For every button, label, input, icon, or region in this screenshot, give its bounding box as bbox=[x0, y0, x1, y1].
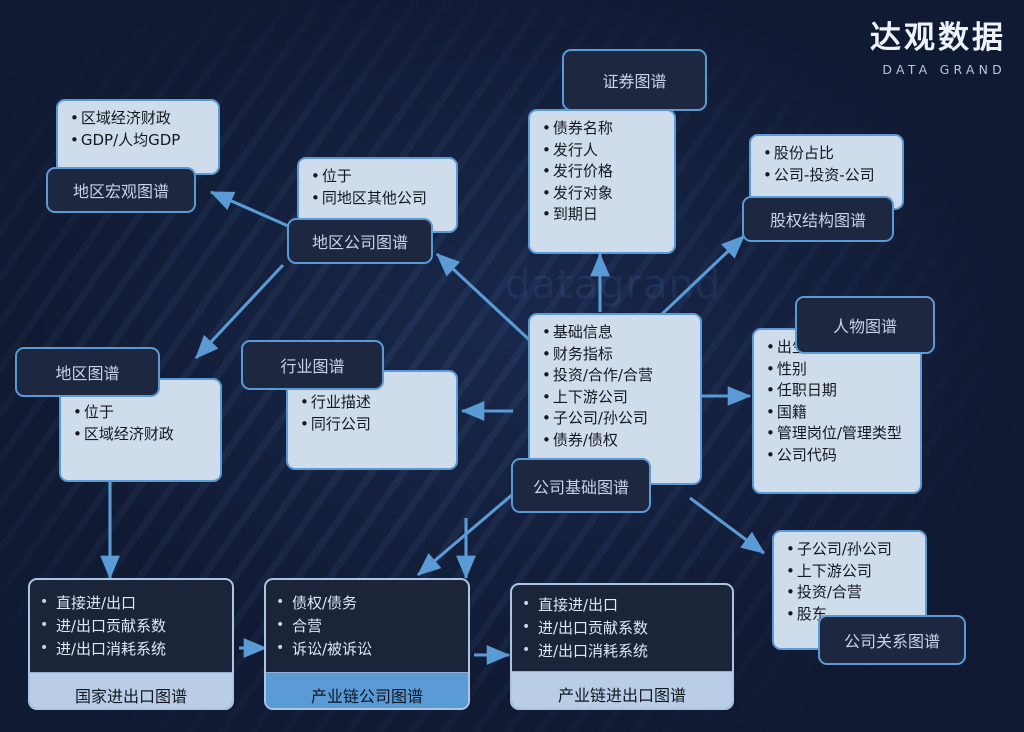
diagram-canvas: datagrand bbox=[0, 0, 1024, 732]
list-item: 性别 bbox=[766, 359, 910, 381]
list-item: 子公司/孙公司 bbox=[542, 408, 690, 430]
list-item: 基础信息 bbox=[542, 322, 690, 344]
region-label[interactable]: 地区图谱 bbox=[15, 347, 160, 397]
chain-company-label[interactable]: 产业链公司图谱 bbox=[266, 672, 468, 710]
list-item: 诉讼/被诉讼 bbox=[292, 638, 458, 661]
company-relation-label[interactable]: 公司关系图谱 bbox=[818, 615, 966, 665]
list-item: 位于 bbox=[73, 402, 210, 424]
list-item: 同地区其他公司 bbox=[311, 188, 446, 210]
securities-panel: 债券名称 发行人 发行价格 发行对象 到期日 bbox=[528, 109, 676, 254]
card-country-trade[interactable]: 直接进/出口 进/出口贡献系数 进/出口消耗系统 国家进出口图谱 bbox=[28, 578, 234, 710]
list-item: 行业描述 bbox=[300, 392, 446, 414]
list-item: 公司-投资-公司 bbox=[763, 165, 892, 187]
list-item: 直接进/出口 bbox=[538, 594, 722, 617]
list-item: 进/出口贡献系数 bbox=[538, 617, 722, 640]
list-item: 发行价格 bbox=[542, 161, 664, 183]
region-macro-label[interactable]: 地区宏观图谱 bbox=[46, 167, 196, 213]
card-chain-trade[interactable]: 直接进/出口 进/出口贡献系数 进/出口消耗系统 产业链进出口图谱 bbox=[510, 583, 734, 710]
list-item: 上下游公司 bbox=[786, 561, 915, 583]
list-item: 区域经济财政 bbox=[70, 108, 208, 130]
list-item: 债券/债权 bbox=[542, 430, 690, 452]
list-item: 国籍 bbox=[766, 402, 910, 424]
equity-structure-label[interactable]: 股权结构图谱 bbox=[742, 196, 894, 242]
logo-english: DATA GRAND bbox=[870, 62, 1006, 77]
list-item: 进/出口消耗系统 bbox=[538, 640, 722, 663]
country-trade-label[interactable]: 国家进出口图谱 bbox=[30, 672, 232, 710]
list-item: 上下游公司 bbox=[542, 387, 690, 409]
securities-label[interactable]: 证券图谱 bbox=[562, 49, 707, 111]
list-item: 债券名称 bbox=[542, 118, 664, 140]
list-item: 发行对象 bbox=[542, 183, 664, 205]
list-item: 区域经济财政 bbox=[73, 424, 210, 446]
region-macro-panel: 区域经济财政 GDP/人均GDP bbox=[56, 99, 220, 175]
chain-trade-label[interactable]: 产业链进出口图谱 bbox=[512, 671, 732, 710]
card-chain-company[interactable]: 债权/债务 合营 诉讼/被诉讼 产业链公司图谱 bbox=[264, 578, 470, 710]
link-region-company-to-macro bbox=[211, 192, 295, 229]
person-label[interactable]: 人物图谱 bbox=[795, 296, 935, 354]
list-item: 发行人 bbox=[542, 140, 664, 162]
list-item: GDP/人均GDP bbox=[70, 130, 208, 152]
list-item: 投资/合营 bbox=[786, 582, 915, 604]
link-core-to-region-company bbox=[437, 254, 537, 347]
list-item: 进/出口消耗系统 bbox=[56, 638, 222, 661]
list-item: 合营 bbox=[292, 615, 458, 638]
link-core-to-relation bbox=[690, 498, 764, 553]
list-item: 位于 bbox=[311, 166, 446, 188]
list-item: 投资/合作/合营 bbox=[542, 365, 690, 387]
list-item: 债权/债务 bbox=[292, 592, 458, 615]
list-item: 股份占比 bbox=[763, 143, 892, 165]
list-item: 管理岗位/管理类型 bbox=[766, 423, 910, 445]
list-item: 财务指标 bbox=[542, 344, 690, 366]
list-item: 公司代码 bbox=[766, 445, 910, 467]
region-company-label[interactable]: 地区公司图谱 bbox=[287, 218, 433, 264]
list-item: 直接进/出口 bbox=[56, 592, 222, 615]
company-core-label[interactable]: 公司基础图谱 bbox=[511, 458, 651, 513]
list-item: 任职日期 bbox=[766, 380, 910, 402]
list-item: 到期日 bbox=[542, 204, 664, 226]
list-item: 同行公司 bbox=[300, 414, 446, 436]
list-item: 子公司/孙公司 bbox=[786, 539, 915, 561]
logo-chinese: 达观数据 bbox=[870, 22, 1006, 55]
list-item: 进/出口贡献系数 bbox=[56, 615, 222, 638]
industry-label[interactable]: 行业图谱 bbox=[241, 340, 384, 390]
brand-logo: 达观数据 DATA GRAND bbox=[870, 22, 1006, 77]
